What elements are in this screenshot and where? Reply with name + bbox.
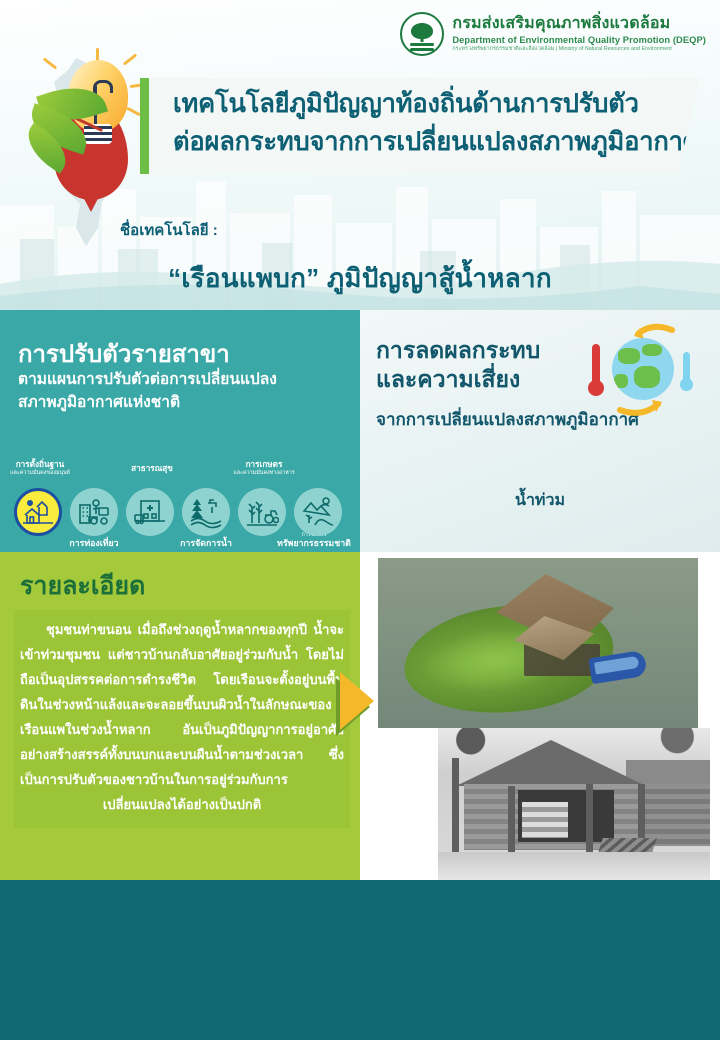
tourism-icon[interactable] [70,488,118,536]
org-name-en: Department of Environmental Quality Prom… [452,34,706,46]
earth-icon [612,338,674,400]
poster-footer: สถานที่ : ชุมชนท่าขนอน อำเภอคีรีรัฐนิคม … [0,880,720,1040]
side-wall [644,784,710,846]
agriculture-icon[interactable] [238,488,286,536]
globe-thermometer-icon [576,322,696,422]
village-icon[interactable] [14,488,62,536]
thermometer-hot-icon [592,344,600,388]
shop-goods [522,802,568,838]
poster-title-line1: เทคโนโลยีภูมิปัญญาท้องถิ่นด้านการปรับตัว [173,84,639,124]
mitigation-heading-line2: และความเสี่ยง [376,366,520,392]
poster-header: กรมส่งเสริมคุณภาพสิ่งแวดล้อม Department … [0,0,720,310]
sector-label-tourism: การท่องเที่ยว [46,538,142,549]
deqp-seal-icon [400,12,444,56]
play-arrow-icon [340,672,374,730]
thermometer-cold-icon [683,352,690,384]
details-heading: รายละเอียด [20,566,145,606]
hospital-icon[interactable] [126,488,174,536]
deqp-logo: กรมส่งเสริมคุณภาพสิ่งแวดล้อม Department … [400,12,706,56]
sector-adaptation-panel: การปรับตัวรายสาขา ตามแผนการปรับตัวต่อการ… [0,310,360,552]
photo-old-wooden-house [438,728,710,880]
old-house-scene [438,728,710,880]
mitigation-heading-line1: การลดผลกระทบ [376,337,540,363]
sector-subheading-line1: ตามแผนการปรับตัวต่อการเปลี่ยนแปลง [18,368,348,391]
sector-icon-row: การตั้งถิ่นฐาน และความมั่นคงของมนุษย์ สา… [12,460,352,550]
sector-label-health: สาธารณสุข [104,464,200,474]
water-tap-icon[interactable] [182,488,230,536]
ground [438,852,710,880]
sector-subheading: ตามแผนการปรับตัวต่อการเปลี่ยนแปลง สภาพภู… [18,368,348,415]
sector-label-agriculture: การเกษตร และความมั่นคงทางอาหาร [216,460,312,477]
hazard-label: น้ำท่วม [360,488,720,513]
details-body: ชุมชนท่าขนอน เมื่อถึงช่วงฤดูน้ำหลากของทุ… [14,610,350,828]
ray-icon [126,107,141,117]
technology-name: “เรือนแพบก” ภูมิปัญญาสู้น้ำหลาก [0,258,720,299]
photo-floating-raft-house [378,558,698,728]
sector-subheading-line2: สภาพภูมิอากาศแห่งชาติ [18,391,348,414]
stilt-post [452,758,459,864]
side-roof [626,760,710,786]
sector-label-water: การจัดการน้ำ [158,538,254,549]
ray-icon [123,53,137,65]
poster-title-line2: ต่อผลกระทบจากการเปลี่ยนแปลงสภาพภูมิอากาศ [173,122,699,162]
org-name-th: กรมส่งเสริมคุณภาพสิ่งแวดล้อม [452,15,706,33]
title-banner: เทคโนโลยีภูมิปัญญาท้องถิ่นด้านการปรับตัว… [140,78,700,174]
nature-icon[interactable] [294,488,342,536]
mitigation-panel: การลดผลกระทบ และความเสี่ยง จากการเปลี่ยน… [360,310,720,552]
ray-icon [43,57,57,69]
details-paragraph: ชุมชนท่าขนอน เมื่อถึงช่วงฤดูน้ำหลากของทุ… [20,618,344,818]
mitigation-heading: การลดผลกระทบ และความเสี่ยง [376,336,540,394]
sector-label-settlement: การตั้งถิ่นฐาน และความมั่นคงของมนุษย์ [0,460,88,477]
ministry-name: กระทรวงทรัพยากรธรรมชาติและสิ่งแวดล้อม | … [452,46,706,53]
lightbulb-pin-emblem [18,52,158,212]
poster-root: กรมส่งเสริมคุณภาพสิ่งแวดล้อม Department … [0,0,720,1040]
technology-label: ชื่อเทคโนโลยี : [120,218,218,242]
